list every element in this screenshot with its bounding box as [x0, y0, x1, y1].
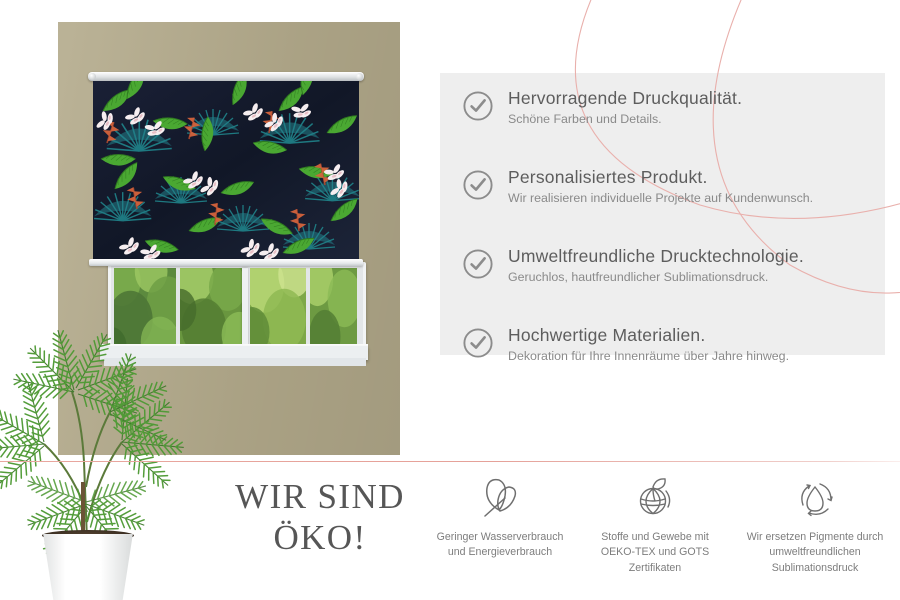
feature-subtitle: Schöne Farben und Details.: [508, 111, 892, 127]
caption-line: Geringer Wasserverbrauch: [420, 530, 580, 545]
caption-line: Stoffe und Gewebe mit: [575, 530, 735, 545]
leaves-icon: [420, 472, 580, 524]
eco-benefit-list: Geringer Wasserverbrauch und Energieverb…: [420, 472, 900, 600]
feature-subtitle: Wir realisieren individuelle Projekte au…: [508, 190, 892, 206]
eco-benefit-caption: Geringer Wasserverbrauch und Energieverb…: [420, 530, 580, 561]
eco-benefit-item: Geringer Wasserverbrauch und Energieverb…: [420, 472, 580, 561]
eco-benefit-caption: Wir ersetzen Pigmente durch umweltfreund…: [735, 530, 895, 576]
caption-line: Sublimationsdruck: [735, 561, 895, 576]
promo-banner: Hervorragende Druckqualität. Schöne Farb…: [0, 0, 900, 600]
feature-item: Hervorragende Druckqualität. Schöne Farb…: [462, 88, 892, 144]
feature-item: Hochwertige Materialien. Dekoration für …: [462, 325, 892, 381]
check-circle-icon: [462, 327, 494, 359]
section-divider: [0, 461, 900, 462]
potted-palm-plant: [0, 272, 197, 600]
blind-bottom-rail: [89, 259, 363, 266]
window-pane: [310, 268, 357, 348]
blind-bracket-left: [89, 73, 96, 80]
check-circle-icon: [462, 169, 494, 201]
feature-title: Hochwertige Materialien.: [508, 325, 892, 346]
caption-line: und Energieverbrauch: [420, 545, 580, 560]
water-drop-recycle-icon: [735, 472, 895, 524]
eco-headline: WIR SIND ÖKO!: [196, 477, 444, 558]
eco-headline-line2: ÖKO!: [196, 518, 444, 559]
blind-bracket-right: [356, 73, 363, 80]
feature-item: Personalisiertes Produkt. Wir realisiere…: [462, 167, 892, 223]
eco-benefit-item: Stoffe und Gewebe mit OEKO-TEX und GOTS …: [575, 472, 735, 576]
globe-leaf-icon: [575, 472, 735, 524]
feature-list: Hervorragende Druckqualität. Schöne Farb…: [462, 88, 892, 404]
feature-title: Personalisiertes Produkt.: [508, 167, 892, 188]
window-pane: [250, 268, 306, 348]
caption-line: OEKO-TEX und GOTS Zertifikaten: [575, 545, 735, 576]
feature-title: Hervorragende Druckqualität.: [508, 88, 892, 109]
blind-headrail: [88, 72, 364, 81]
roller-blind: [88, 72, 364, 268]
eco-headline-line1: WIR SIND: [196, 477, 444, 518]
caption-line: Wir ersetzen Pigmente durch: [735, 530, 895, 545]
blind-fabric-pattern: [93, 81, 359, 259]
eco-benefit-item: Wir ersetzen Pigmente durch umweltfreund…: [735, 472, 895, 576]
feature-subtitle: Geruchlos, hautfreundlicher Sublimations…: [508, 269, 892, 285]
eco-benefit-caption: Stoffe und Gewebe mit OEKO-TEX und GOTS …: [575, 530, 735, 576]
feature-title: Umweltfreundliche Drucktechnologie.: [508, 246, 892, 267]
check-circle-icon: [462, 248, 494, 280]
caption-line: umweltfreundlichen: [735, 545, 895, 560]
feature-subtitle: Dekoration für Ihre Innenräume über Jahr…: [508, 348, 892, 364]
plant-pot: [37, 534, 139, 600]
check-circle-icon: [462, 90, 494, 122]
feature-item: Umweltfreundliche Drucktechnologie. Geru…: [462, 246, 892, 302]
window-mullion: [242, 268, 248, 348]
